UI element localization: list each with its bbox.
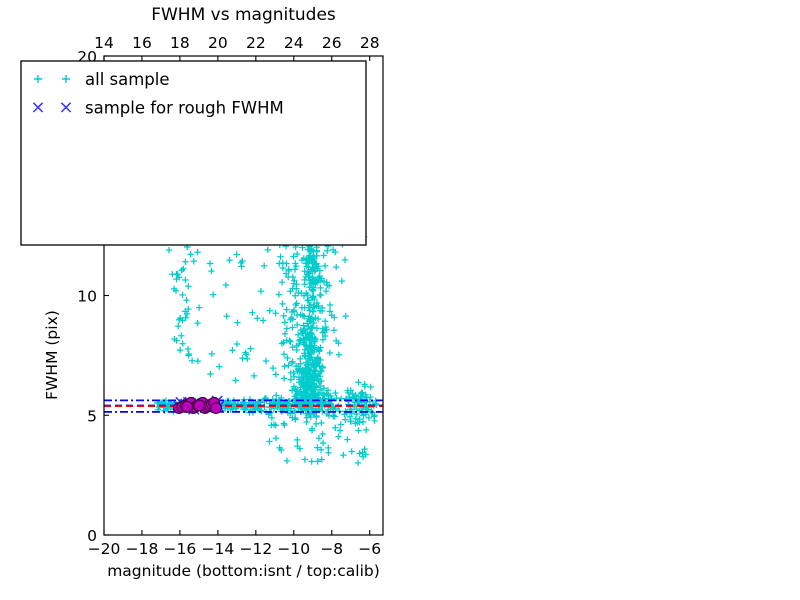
data-point-all-sample <box>234 341 240 347</box>
data-point-best-effort <box>194 400 205 411</box>
data-point-all-sample <box>179 267 185 273</box>
data-point-all-sample <box>208 268 214 274</box>
data-point-all-sample <box>281 363 287 369</box>
data-point-all-sample <box>289 358 295 364</box>
data-point-all-sample <box>260 317 266 323</box>
data-point-all-sample <box>344 436 350 442</box>
legend-entry-label: sample for rough FWHM <box>85 98 284 117</box>
data-point-all-sample <box>267 307 273 313</box>
data-point-all-sample <box>355 460 361 466</box>
data-point-all-sample <box>234 251 240 257</box>
data-point-all-sample <box>333 264 339 270</box>
data-point-all-sample <box>182 277 188 283</box>
data-point-all-sample <box>282 319 288 325</box>
data-point-all-sample <box>336 352 342 358</box>
data-point-all-sample <box>226 257 232 263</box>
data-point-all-sample <box>317 292 323 298</box>
left-xticklabel-bottom: −8 <box>320 540 343 558</box>
data-point-all-sample <box>320 252 326 258</box>
data-point-all-sample <box>234 319 240 325</box>
figure-canvas: −20−18−16−14−12−10−8−6141618202224262805… <box>0 0 800 600</box>
data-point-all-sample <box>349 448 355 454</box>
data-point-all-sample <box>261 263 267 269</box>
data-point-all-sample <box>175 323 181 329</box>
data-point-all-sample <box>281 351 287 357</box>
left-xticklabel-bottom: −16 <box>164 540 197 558</box>
left-xticklabel-bottom: −10 <box>277 540 310 558</box>
data-point-all-sample <box>224 313 230 319</box>
data-point-all-sample <box>288 376 294 382</box>
left-xticklabel-top: 28 <box>360 34 380 52</box>
left-yticklabel: 5 <box>87 407 97 425</box>
left-xticklabel-top: 16 <box>132 34 152 52</box>
data-point-all-sample <box>180 341 186 347</box>
data-point-all-sample <box>281 375 287 381</box>
data-point-all-sample <box>338 421 344 427</box>
data-point-all-sample <box>327 302 333 308</box>
data-point-all-sample <box>207 371 213 377</box>
data-point-all-sample <box>182 259 188 265</box>
left-xticklabel-bottom: −18 <box>126 540 159 558</box>
data-point-all-sample <box>342 257 348 263</box>
data-point-all-sample <box>279 301 285 307</box>
data-point-all-sample <box>303 419 309 425</box>
data-point-all-sample <box>194 249 200 255</box>
data-point-all-sample <box>169 271 175 277</box>
data-point-all-sample <box>356 450 362 456</box>
data-point-best-effort <box>182 401 193 412</box>
data-point-all-sample <box>185 352 191 358</box>
data-point-all-sample <box>266 438 272 444</box>
left-xticklabel-top: 18 <box>170 34 190 52</box>
data-point-all-sample <box>283 260 289 266</box>
data-point-all-sample <box>290 274 296 280</box>
data-point-all-sample <box>185 283 191 289</box>
data-point-all-sample <box>272 310 278 316</box>
data-point-all-sample <box>317 285 323 291</box>
left-xticklabel-top: 14 <box>94 34 114 52</box>
left-xticklabel-bottom: −6 <box>358 540 381 558</box>
data-point-all-sample <box>313 421 319 427</box>
left-xticklabel-bottom: −14 <box>202 540 235 558</box>
data-point-all-sample <box>323 288 329 294</box>
data-point-all-sample <box>287 339 293 345</box>
data-point-all-sample <box>258 288 264 294</box>
data-point-all-sample <box>332 390 338 396</box>
data-point-all-sample <box>216 363 222 369</box>
data-point-all-sample <box>318 420 324 426</box>
left-yticklabel: 0 <box>87 527 97 545</box>
data-point-all-sample <box>191 258 197 264</box>
data-point-all-sample <box>270 365 276 371</box>
data-point-all-sample <box>343 313 349 319</box>
data-point-all-sample <box>280 265 286 271</box>
data-point-all-sample <box>166 247 172 253</box>
left-yticklabel: 10 <box>77 288 97 306</box>
data-point-all-sample <box>232 377 238 383</box>
left-xticklabel-bottom: −12 <box>239 540 272 558</box>
legend-box: all samplesample for rough FWHM <box>21 61 366 245</box>
data-point-all-sample <box>330 413 336 419</box>
data-point-all-sample <box>178 333 184 339</box>
left-xticklabel-top: 24 <box>284 34 304 52</box>
left-xticklabel-top: 26 <box>322 34 342 52</box>
data-point-all-sample <box>247 345 253 351</box>
data-point-all-sample <box>273 371 279 377</box>
data-point-all-sample <box>239 355 245 361</box>
data-point-all-sample <box>314 325 320 331</box>
left-xticklabel-top: 22 <box>246 34 266 52</box>
data-point-all-sample <box>320 440 326 446</box>
data-point-all-sample <box>281 422 287 428</box>
data-point-all-sample <box>196 304 202 310</box>
data-point-all-sample <box>279 279 285 285</box>
data-point-all-sample <box>210 291 216 297</box>
data-point-all-sample <box>207 260 213 266</box>
data-point-all-sample <box>187 251 193 257</box>
data-point-all-sample <box>355 427 361 433</box>
data-point-all-sample <box>209 351 215 357</box>
data-point-all-sample <box>183 297 189 303</box>
data-point-all-sample <box>254 315 260 321</box>
data-point-all-sample <box>179 292 185 298</box>
data-point-all-sample <box>368 384 374 390</box>
legend-entry-label: all sample <box>85 70 170 89</box>
data-point-all-sample <box>363 427 369 433</box>
data-point-all-sample <box>276 291 282 297</box>
data-point-all-sample <box>316 435 322 441</box>
data-point-all-sample <box>189 358 195 364</box>
data-point-best-effort <box>211 403 222 414</box>
data-point-all-sample <box>177 347 183 353</box>
data-point-all-sample <box>331 327 337 333</box>
left-panel-ylabel: FWHM (pix) <box>43 310 61 400</box>
data-point-all-sample <box>322 263 328 269</box>
left-panel-title: FWHM vs magnitudes <box>151 5 336 25</box>
data-point-all-sample <box>325 445 331 451</box>
data-point-all-sample <box>302 456 308 462</box>
matplotlib-figure: −20−18−16−14−12−10−8−6141618202224262805… <box>0 0 800 600</box>
data-point-all-sample <box>324 248 330 254</box>
data-point-all-sample <box>355 379 361 385</box>
data-point-all-sample <box>185 346 191 352</box>
data-point-all-sample <box>251 373 257 379</box>
data-point-all-sample <box>371 418 377 424</box>
data-point-all-sample <box>339 278 345 284</box>
data-point-all-sample <box>309 458 315 464</box>
data-point-all-sample <box>229 347 235 353</box>
data-point-all-sample <box>335 433 341 439</box>
data-point-all-sample <box>195 358 201 364</box>
data-point-all-sample <box>284 355 290 361</box>
data-point-all-sample <box>281 313 287 319</box>
data-point-all-sample <box>276 260 282 266</box>
data-point-all-sample <box>292 266 298 272</box>
data-point-all-sample <box>277 254 283 260</box>
data-point-all-sample <box>194 320 200 326</box>
data-point-all-sample <box>223 282 229 288</box>
data-point-all-sample <box>263 358 269 364</box>
data-point-all-sample <box>366 415 372 421</box>
data-point-all-sample <box>265 247 271 253</box>
data-point-all-sample <box>322 318 328 324</box>
data-point-all-sample <box>319 431 325 437</box>
left-xticklabel-top: 20 <box>208 34 228 52</box>
data-point-all-sample <box>284 458 290 464</box>
legend-frame <box>21 61 366 245</box>
data-point-all-sample <box>273 435 279 441</box>
left-panel-xlabel: magnitude (bottom:isnt / top:calib) <box>107 562 380 580</box>
data-point-all-sample <box>180 266 186 272</box>
data-point-all-sample <box>340 452 346 458</box>
data-point-all-sample <box>327 350 333 356</box>
data-point-all-sample <box>302 281 308 287</box>
data-point-all-sample <box>294 437 300 443</box>
data-point-all-sample <box>249 310 255 316</box>
